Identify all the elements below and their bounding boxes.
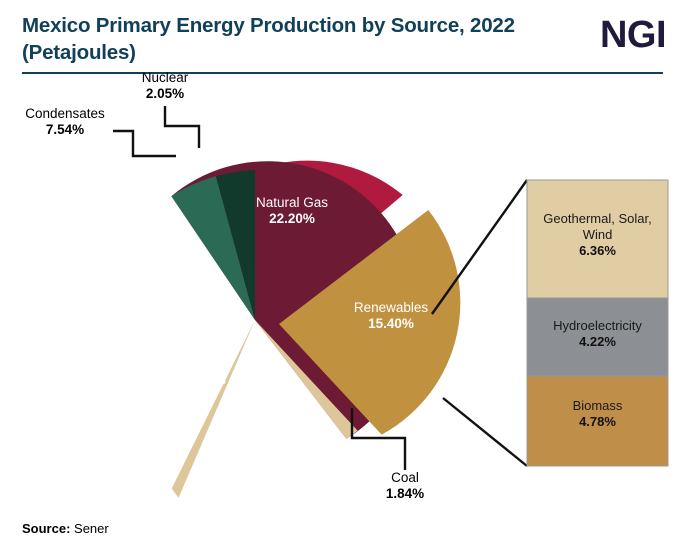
pie-label-renewables-value: 15.40% (331, 316, 451, 332)
pie-label-nuclear: Nuclear 2.05% (120, 70, 210, 103)
breakout-label-hydroelectricity-value: 4.22% (528, 334, 667, 350)
chart-stage: Natural Gas 22.20% Crude Oil 50.98% Rene… (0, 78, 684, 518)
breakout-label-geothermal-solar-wind-name: Geothermal, Solar, Wind (531, 211, 664, 243)
pie-label-renewables-name: Renewables (331, 300, 451, 316)
breakout-label-biomass: Biomass 4.78% (531, 398, 664, 430)
pie-label-condensates: Condensates 7.54% (13, 106, 117, 139)
chart-graphics (0, 78, 684, 518)
pie-label-coal-name: Coal (360, 470, 450, 486)
breakout-label-geothermal-solar-wind-value: 6.36% (531, 243, 664, 259)
breakout-label-geothermal-solar-wind: Geothermal, Solar, Wind 6.36% (531, 211, 664, 259)
pie-label-crude-oil-value: 50.98% (143, 372, 263, 388)
source-label: Source: (22, 521, 70, 536)
pie-label-natural-gas: Natural Gas 22.20% (232, 195, 352, 228)
pie-label-nuclear-value: 2.05% (120, 86, 210, 102)
pie-label-nuclear-name: Nuclear (120, 70, 210, 86)
breakout-label-hydroelectricity: Hydroelectricity 4.22% (528, 318, 667, 350)
breakout-label-biomass-name: Biomass (531, 398, 664, 414)
breakout-label-biomass-value: 4.78% (531, 414, 664, 430)
pie-label-crude-oil: Crude Oil 50.98% (143, 356, 263, 389)
pie-label-natural-gas-name: Natural Gas (232, 195, 352, 211)
pie-label-condensates-value: 7.54% (13, 122, 117, 138)
ngi-logo: NGI (600, 16, 666, 54)
pie-label-crude-oil-name: Crude Oil (143, 356, 263, 372)
pie-label-coal-value: 1.84% (360, 486, 450, 502)
header-divider (22, 72, 663, 74)
pie-label-natural-gas-value: 22.20% (232, 211, 352, 227)
breakout-label-hydroelectricity-name: Hydroelectricity (528, 318, 667, 334)
leader-line-nuclear (165, 106, 199, 148)
pie-label-condensates-name: Condensates (13, 106, 117, 122)
source-note: Source: Sener (22, 521, 109, 536)
pie-label-renewables: Renewables 15.40% (331, 300, 451, 333)
page-title: Mexico Primary Energy Production by Sour… (22, 12, 522, 67)
source-value: Sener (74, 521, 109, 536)
chart-header: Mexico Primary Energy Production by Sour… (0, 0, 684, 78)
leader-line-condensates (113, 131, 176, 156)
chart-page: Mexico Primary Energy Production by Sour… (0, 0, 684, 552)
pie-label-coal: Coal 1.84% (360, 470, 450, 503)
breakout-connector-bottom (443, 398, 527, 466)
